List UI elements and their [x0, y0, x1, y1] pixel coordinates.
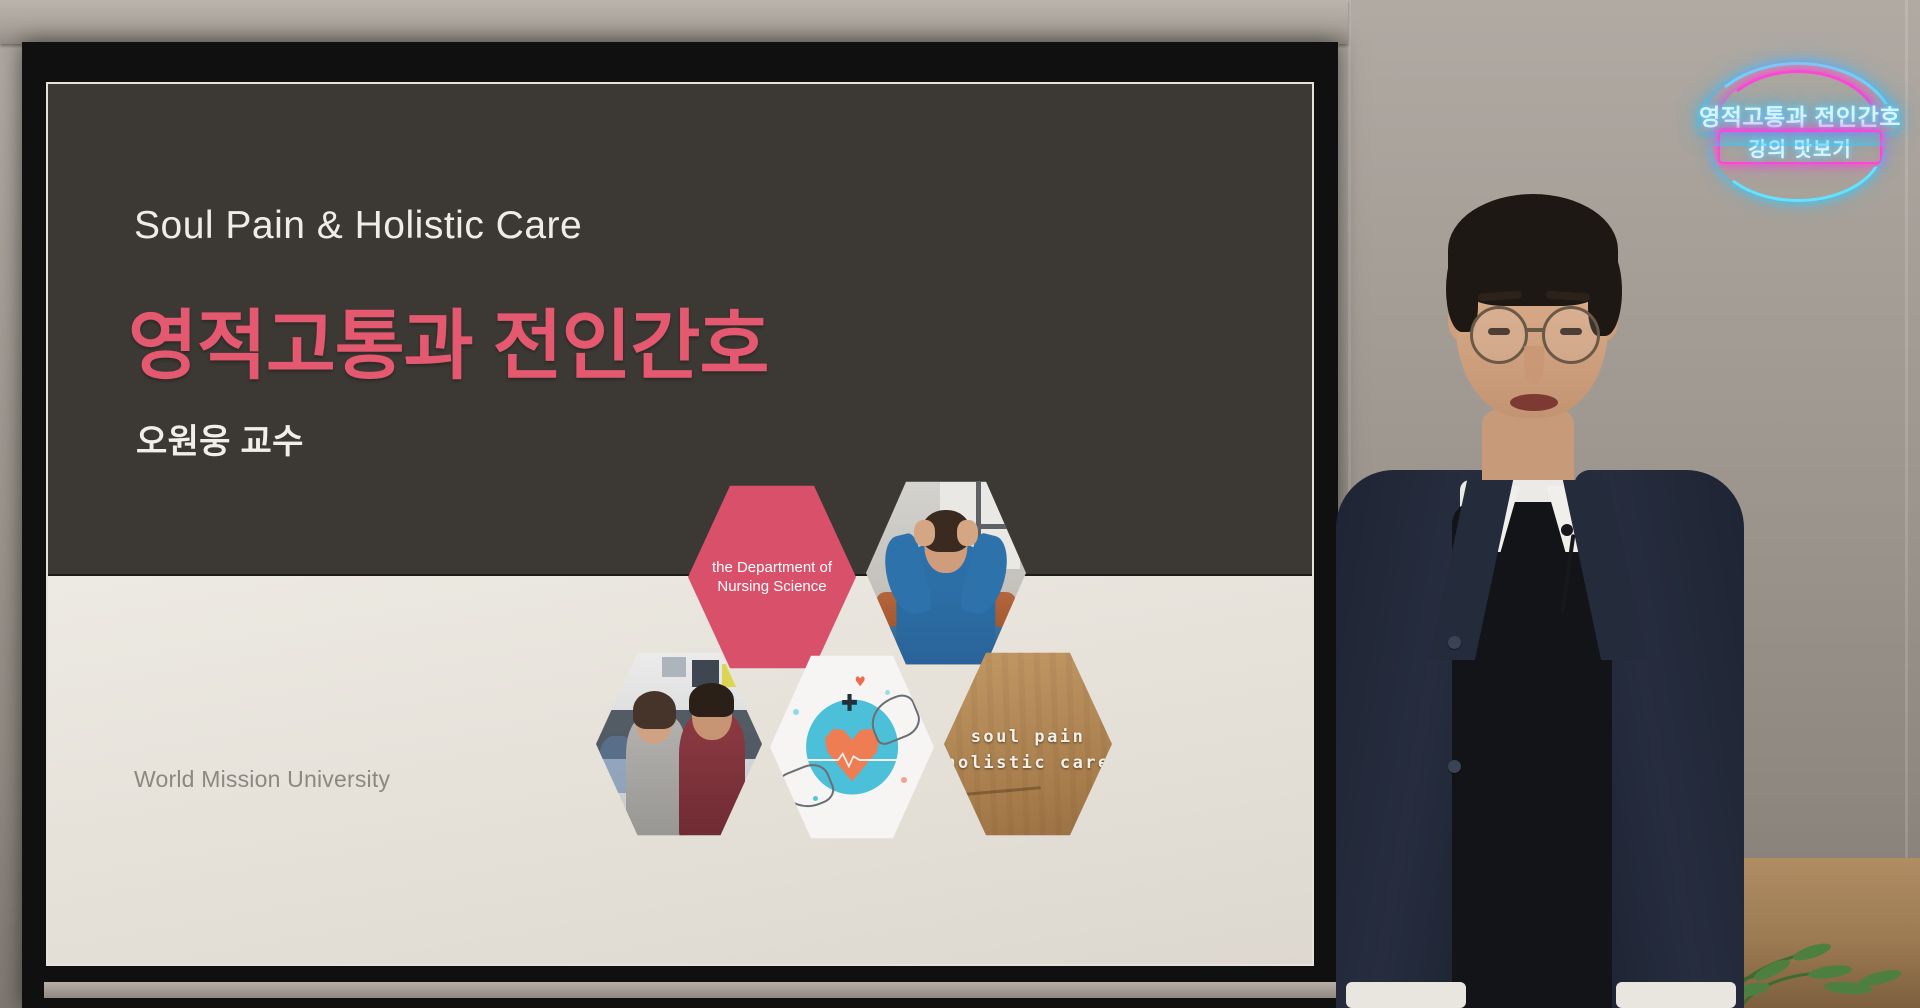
sparkle-dot	[793, 709, 799, 715]
presenter-mouth	[1510, 394, 1558, 411]
blazer-button	[1448, 760, 1461, 773]
wood-sign-text: soul pain holistic care	[944, 725, 1112, 776]
sparkle-dot	[885, 690, 890, 695]
eyeglasses-lens-left	[1470, 306, 1528, 364]
projection-screen-frame: Soul Pain & Holistic Care 영적고통과 전인간호 오원웅…	[22, 42, 1338, 1008]
wood-text-line1: soul pain	[971, 727, 1086, 747]
slide-title-korean: 영적고통과 전인간호	[128, 284, 768, 394]
woman-hair	[633, 691, 676, 729]
shirt-cuff-left	[1346, 982, 1466, 1008]
hexagon-department-label: the Department of Nursing Science	[698, 558, 846, 597]
eyeglasses-bridge	[1527, 328, 1545, 332]
presenter-nose	[1524, 346, 1544, 384]
slide-university-footer: World Mission University	[134, 766, 390, 793]
person-hand-left	[914, 520, 935, 547]
presentation-slide: Soul Pain & Holistic Care 영적고통과 전인간호 오원웅…	[48, 84, 1312, 964]
person-hand-right	[957, 520, 978, 547]
sparkle-dot	[901, 777, 907, 783]
neon-sign-title: 영적고통과 전인간호	[1690, 98, 1910, 132]
shirt-cuff-right	[1616, 982, 1736, 1008]
small-heart-icon	[855, 675, 865, 686]
blazer-button	[1448, 636, 1461, 649]
dept-label-line1: the Department of	[712, 559, 832, 576]
wall-panel-grey	[662, 657, 685, 678]
projector-screen-housing	[0, 0, 1348, 44]
screen-bottom-bar	[44, 982, 1360, 998]
projection-screen-surface: Soul Pain & Holistic Care 영적고통과 전인간호 오원웅…	[46, 82, 1314, 966]
dept-label-line2: Nursing Science	[717, 578, 826, 595]
slide-presenter-name: 오원웅 교수	[136, 414, 304, 463]
slide-eyebrow-text: Soul Pain & Holistic Care	[134, 204, 582, 248]
wood-text-line2: holistic care	[945, 753, 1111, 773]
eyeglasses-lens-right	[1542, 306, 1600, 364]
presenter-figure	[1330, 150, 1750, 1008]
man-hair	[689, 683, 734, 717]
